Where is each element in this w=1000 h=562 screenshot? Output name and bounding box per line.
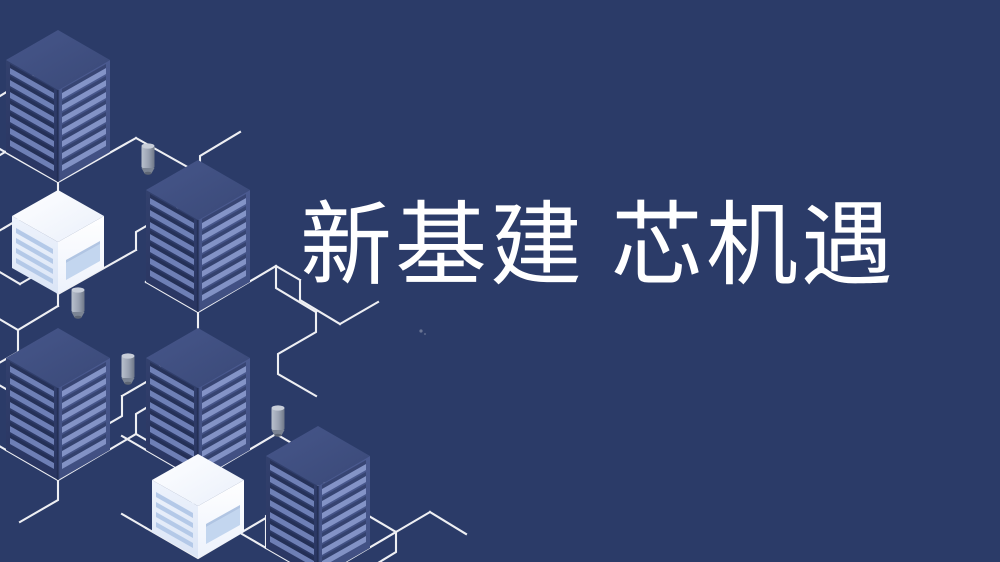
server-rack xyxy=(146,160,250,312)
server-rack xyxy=(6,328,110,480)
dust-speck xyxy=(424,333,426,335)
server-rack xyxy=(6,30,110,182)
presentation-slide: 新基建 芯机遇 xyxy=(0,0,1000,562)
isometric-datacenter-artwork xyxy=(0,0,1000,562)
dust-speck xyxy=(419,329,422,332)
